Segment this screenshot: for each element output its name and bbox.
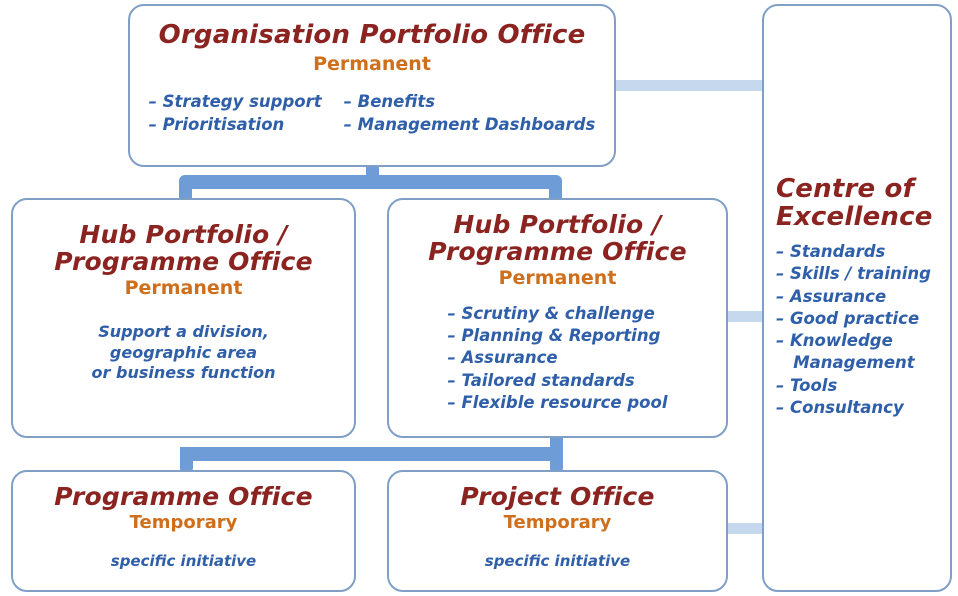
box-hub-portfolio-programme-office-left[interactable]: Hub Portfolio / Programme Office Permane… bbox=[11, 198, 356, 438]
box-subtitle: Temporary bbox=[389, 513, 726, 533]
bullet-wrap: – Standards – Skills / training – Assura… bbox=[776, 241, 950, 419]
bullet-columns: – Strategy support – Prioritisation – Be… bbox=[130, 91, 614, 136]
list-item: – Benefits bbox=[344, 91, 596, 113]
list-item: – Assurance bbox=[776, 286, 931, 308]
box-project-office[interactable]: Project Office Temporary specific initia… bbox=[387, 470, 728, 592]
list-item: – Scrutiny & challenge bbox=[447, 303, 667, 325]
box-programme-office[interactable]: Programme Office Temporary specific init… bbox=[11, 470, 356, 592]
box-note: Support a division, geographic area or b… bbox=[13, 322, 354, 384]
list-item: – Consultancy bbox=[776, 397, 931, 419]
bullet-list: – Scrutiny & challenge – Planning & Repo… bbox=[447, 303, 667, 414]
connector-hbar-top bbox=[179, 175, 562, 189]
bullet-list-right: – Benefits – Management Dashboards bbox=[344, 91, 596, 136]
list-item: Management bbox=[776, 352, 931, 374]
list-item: – Tailored standards bbox=[447, 370, 667, 392]
box-subtitle: Permanent bbox=[389, 268, 726, 289]
box-subtitle: Permanent bbox=[130, 54, 614, 75]
list-item: – Standards bbox=[776, 241, 931, 263]
list-item: – Flexible resource pool bbox=[447, 392, 667, 414]
connector-hbar-bottom bbox=[180, 447, 563, 461]
list-item: – Prioritisation bbox=[149, 114, 322, 136]
box-title: Hub Portfolio / Programme Office bbox=[13, 222, 354, 275]
bullet-list-left: – Strategy support – Prioritisation bbox=[149, 91, 322, 136]
list-item: – Strategy support bbox=[149, 91, 322, 113]
diagram-canvas: Organisation Portfolio Office Permanent … bbox=[0, 0, 958, 596]
box-title: Programme Office bbox=[13, 484, 354, 511]
box-title: Organisation Portfolio Office bbox=[130, 22, 614, 50]
list-item: – Planning & Reporting bbox=[447, 325, 667, 347]
box-title: Project Office bbox=[389, 484, 726, 511]
box-hub-portfolio-programme-office-right[interactable]: Hub Portfolio / Programme Office Permane… bbox=[387, 198, 728, 438]
list-item: – Management Dashboards bbox=[344, 114, 596, 136]
box-note: specific initiative bbox=[389, 552, 726, 572]
list-item: – Knowledge bbox=[776, 330, 931, 352]
box-title: Hub Portfolio / Programme Office bbox=[389, 212, 726, 265]
box-note: specific initiative bbox=[13, 552, 354, 572]
list-item: – Assurance bbox=[447, 347, 667, 369]
bullet-list: – Standards – Skills / training – Assura… bbox=[776, 241, 931, 419]
box-subtitle: Temporary bbox=[13, 513, 354, 533]
box-centre-of-excellence[interactable]: Centre of Excellence – Standards – Skill… bbox=[762, 4, 952, 592]
box-title: Centre of Excellence bbox=[776, 176, 950, 231]
list-item: – Good practice bbox=[776, 308, 931, 330]
connector-coe-top bbox=[604, 80, 766, 91]
box-organisation-portfolio-office[interactable]: Organisation Portfolio Office Permanent … bbox=[128, 4, 616, 167]
bullet-wrap: – Scrutiny & challenge – Planning & Repo… bbox=[389, 303, 726, 414]
list-item: – Tools bbox=[776, 375, 931, 397]
list-item: – Skills / training bbox=[776, 263, 931, 285]
box-subtitle: Permanent bbox=[13, 278, 354, 299]
